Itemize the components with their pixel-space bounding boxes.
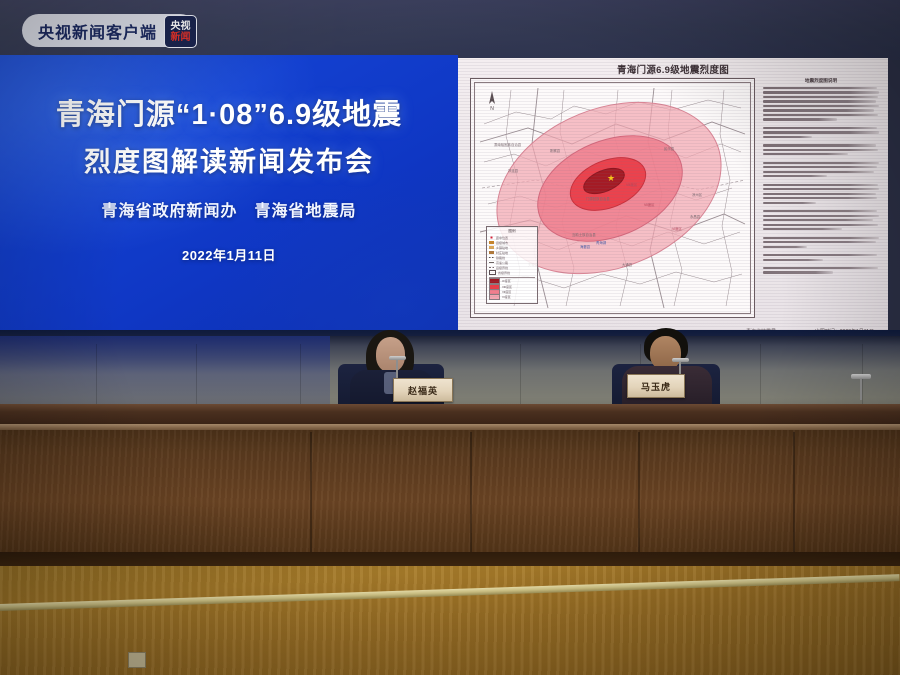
legend-label: 省级界线 <box>498 271 510 275</box>
participant-right <box>612 328 722 412</box>
place-label-huzhu: 互助土族自治县 <box>572 232 596 237</box>
projection-screen-title-slide: 青海门源“1·08”6.9级地震 烈度图解读新闻发布会 青海省政府新闻办 青海省… <box>0 55 458 336</box>
map-frame: N ★ Ⅷ度区 Ⅶ度区 Ⅵ度区 门源回族自治县 祁连县 互助土族自治县 天峻县 … <box>470 78 755 318</box>
place-label-liangzhou: 凉州区 <box>692 192 702 197</box>
microphone-head-left <box>389 356 406 360</box>
press-conference-photo: 青海门源“1·08”6.9级地震 烈度图解读新闻发布会 青海省政府新闻办 青海省… <box>0 0 900 675</box>
legend-row: 省级界线 <box>489 271 535 275</box>
nameplate-left: 赵福英 <box>393 378 453 402</box>
legend-intensity-scale: Ⅸ度区 Ⅷ度区 Ⅶ度区 Ⅵ度区 <box>489 277 535 299</box>
map-canvas: N ★ Ⅷ度区 Ⅶ度区 Ⅵ度区 门源回族自治县 祁连县 互助土族自治县 天峻县 … <box>476 84 749 312</box>
legend-label: 村庄驻地 <box>496 251 508 255</box>
county-seat-symbol-icon <box>489 241 494 244</box>
place-label-haiyan: 海晏县 <box>580 244 590 249</box>
cctv-news-badge: 央视 新闻 <box>164 15 197 48</box>
face-right <box>650 336 681 370</box>
zone-label-6: Ⅵ度区 <box>672 226 682 231</box>
legend-label: 震中位置 <box>496 236 508 240</box>
slide-date: 2022年1月11日 <box>0 245 458 264</box>
svg-text:N: N <box>490 106 494 110</box>
slide-headline: 青海门源“1·08”6.9级地震 <box>0 91 458 133</box>
slide-organizers: 青海省政府新闻办 青海省地震局 <box>0 197 458 221</box>
railway-symbol-icon <box>489 257 494 258</box>
place-label-menyuan: 门源回族自治县 <box>586 196 610 201</box>
map-legend: 图例 震中位置 县级城市 乡镇驻地 村庄驻地 <box>486 226 538 304</box>
podium-wood-grain <box>0 430 900 560</box>
intensity-swatch-row: Ⅵ度区 <box>489 295 535 299</box>
legend-row: 村庄驻地 <box>489 251 535 255</box>
microphone-stem-far-right <box>860 378 862 400</box>
intensity-degree-label: Ⅷ度区 <box>502 285 512 289</box>
nameplate-text-left: 赵福英 <box>408 384 438 397</box>
face-left <box>376 337 405 372</box>
badge-line-2: 新闻 <box>171 32 191 43</box>
epicenter-symbol-icon <box>489 236 494 239</box>
township-symbol-icon <box>489 246 494 249</box>
place-label-minle: 民乐县 <box>664 146 674 151</box>
slide-subhead: 烈度图解读新闻发布会 <box>0 140 458 179</box>
legend-label: 县级城市 <box>496 241 508 245</box>
place-label-gangcha: 刚察县 <box>550 148 560 153</box>
map-title: 青海门源6.9级地震烈度图 <box>458 62 888 76</box>
map-notes-column: 地震烈度图说明 <box>763 78 879 322</box>
badge-line-1: 央视 <box>171 21 191 32</box>
village-symbol-icon <box>489 251 494 254</box>
microphone-head-far-right <box>851 374 871 379</box>
legend-row: 县级城市 <box>489 241 535 245</box>
legend-row: 高速公路 <box>489 261 535 265</box>
zone-label-7: Ⅶ度区 <box>644 202 655 207</box>
legend-label: 乡镇驻地 <box>496 246 508 250</box>
floor-vent-plate <box>128 652 146 668</box>
county-boundary-symbol-icon <box>489 267 494 268</box>
epicenter-star-icon: ★ <box>607 175 614 182</box>
legend-row: 震中位置 <box>489 236 535 240</box>
legend-label: 县级界线 <box>496 266 508 270</box>
intensity-degree-label: Ⅵ度区 <box>502 295 511 299</box>
nameplate-right: 马玉虎 <box>627 374 685 398</box>
legend-title: 图例 <box>489 229 535 234</box>
cctv-watermark: 央视新闻客户端 央视 新闻 <box>22 14 197 47</box>
place-label-qinghai-lake: 青海湖 <box>596 240 606 245</box>
watermark-label: 央视新闻客户端 <box>38 19 157 43</box>
legend-row: 县级界线 <box>489 266 535 270</box>
legend-label: 高速公路 <box>496 261 508 265</box>
intensity-chip-6 <box>489 294 500 300</box>
intensity-degree-label: Ⅶ度区 <box>502 290 511 294</box>
place-label-sunan: 肃南裕固族自治县 <box>494 142 521 147</box>
place-label-qilian: 祁连县 <box>508 168 518 173</box>
highway-symbol-icon <box>489 262 494 263</box>
map-notes-title: 地震烈度图说明 <box>763 78 879 84</box>
place-label-datong: 大通县 <box>622 262 632 267</box>
legend-label: 铁路线 <box>496 256 505 260</box>
provincial-boundary-symbol-icon <box>489 270 496 275</box>
legend-row: 铁路线 <box>489 256 535 260</box>
projection-screen-map-slide: 青海门源6.9级地震烈度图 <box>458 58 888 336</box>
nameplate-text-right: 马玉虎 <box>641 380 671 393</box>
place-label-yongchang: 永昌县 <box>690 214 700 219</box>
intensity-degree-label: Ⅸ度区 <box>502 279 511 283</box>
zone-label-8: Ⅷ度区 <box>626 182 637 187</box>
microphone-head-right <box>672 358 689 362</box>
compass-north-icon: N <box>486 90 498 110</box>
legend-row: 乡镇驻地 <box>489 246 535 250</box>
